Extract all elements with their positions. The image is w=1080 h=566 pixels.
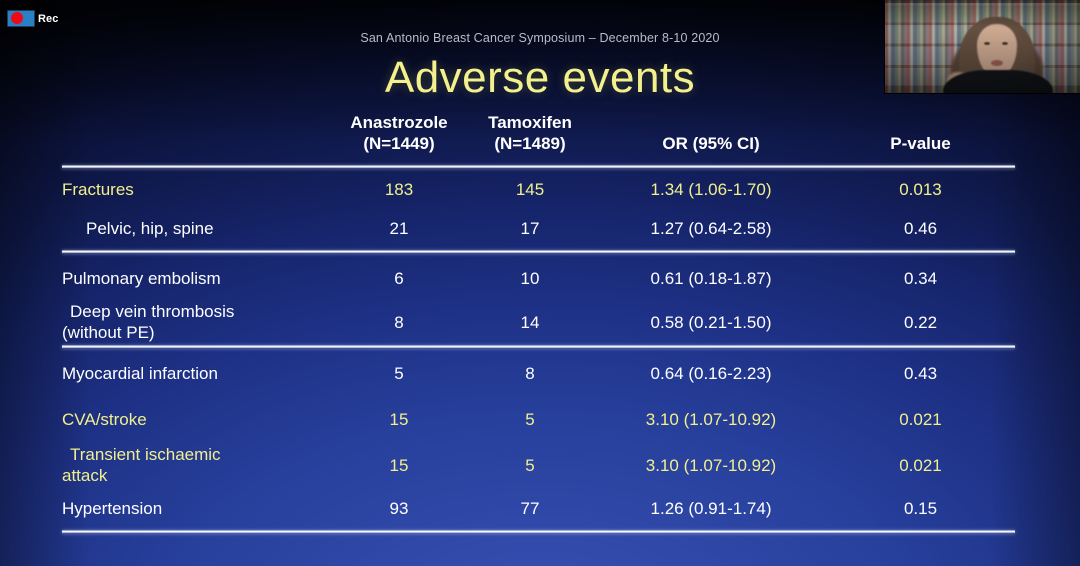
table-divider	[62, 248, 1015, 255]
row-label-text: Fractures	[62, 180, 134, 199]
table-row: Pulmonary embolism6100.61 (0.18-1.87)0.3…	[62, 255, 1015, 301]
column-header-tamoxifen-line2: (N=1489)	[464, 133, 596, 154]
cell-odds-ratio: 0.61 (0.18-1.87)	[596, 255, 826, 301]
row-label-text-line2: attack	[62, 466, 107, 485]
cell-tamoxifen: 77	[464, 488, 596, 528]
adverse-events-table: Anastrozole (N=1449) Tamoxifen (N=1489) …	[62, 112, 1015, 535]
cell-tamoxifen: 8	[464, 350, 596, 396]
cell-anastrozole: 8	[334, 301, 464, 343]
column-header-anastrozole: Anastrozole (N=1449)	[334, 112, 464, 163]
cell-tamoxifen: 145	[464, 170, 596, 208]
row-label: Hypertension	[62, 488, 334, 528]
cell-anastrozole: 21	[334, 208, 464, 248]
cell-odds-ratio: 1.27 (0.64-2.58)	[596, 208, 826, 248]
table-row: Pelvic, hip, spine21171.27 (0.64-2.58)0.…	[62, 208, 1015, 248]
cell-tamoxifen: 5	[464, 442, 596, 488]
column-header-pvalue-line1: P-value	[826, 133, 1015, 154]
divider-line	[62, 345, 1015, 349]
cell-pvalue: 0.15	[826, 488, 1015, 528]
table-row: Transient ischaemicattack1553.10 (1.07-1…	[62, 442, 1015, 488]
table-divider-cell	[62, 528, 1015, 535]
record-dot-icon	[7, 10, 35, 27]
cell-pvalue: 0.43	[826, 350, 1015, 396]
cell-odds-ratio: 0.64 (0.16-2.23)	[596, 350, 826, 396]
table-divider-cell	[62, 248, 1015, 255]
row-label-text: Hypertension	[62, 499, 162, 518]
cell-pvalue: 0.021	[826, 442, 1015, 488]
row-label-text: Myocardial infarction	[62, 364, 218, 383]
table-row: Myocardial infarction580.64 (0.16-2.23)0…	[62, 350, 1015, 396]
table-divider-cell	[62, 343, 1015, 350]
cell-tamoxifen: 10	[464, 255, 596, 301]
cell-anastrozole: 93	[334, 488, 464, 528]
row-label-text: Transient ischaemic	[62, 444, 221, 465]
divider-line	[62, 250, 1015, 254]
table-divider	[62, 343, 1015, 350]
column-header-or: OR (95% CI)	[596, 112, 826, 163]
table-divider-cell	[62, 163, 1015, 170]
table-header: Anastrozole (N=1449) Tamoxifen (N=1489) …	[62, 112, 1015, 163]
cell-tamoxifen: 5	[464, 396, 596, 442]
cell-tamoxifen: 14	[464, 301, 596, 343]
column-header-tamoxifen-line1: Tamoxifen	[464, 112, 596, 133]
slide-footnote	[62, 556, 1015, 566]
row-label: Transient ischaemicattack	[62, 442, 334, 488]
row-label-text: CVA/stroke	[62, 410, 147, 429]
cell-anastrozole: 15	[334, 442, 464, 488]
table-divider	[62, 528, 1015, 535]
column-header-anastrozole-line2: (N=1449)	[334, 133, 464, 154]
divider-line	[62, 530, 1015, 534]
column-header-or-line1: OR (95% CI)	[596, 133, 826, 154]
table-header-row: Anastrozole (N=1449) Tamoxifen (N=1489) …	[62, 112, 1015, 163]
cell-anastrozole: 6	[334, 255, 464, 301]
row-label: Pelvic, hip, spine	[62, 208, 334, 248]
cell-anastrozole: 5	[334, 350, 464, 396]
cell-odds-ratio: 1.26 (0.91-1.74)	[596, 488, 826, 528]
table-row: Hypertension93771.26 (0.91-1.74)0.15	[62, 488, 1015, 528]
table-row: Fractures1831451.34 (1.06-1.70)0.013	[62, 170, 1015, 208]
cell-anastrozole: 15	[334, 396, 464, 442]
cell-pvalue: 0.22	[826, 301, 1015, 343]
row-label-text: Pulmonary embolism	[62, 269, 221, 288]
row-label: Fractures	[62, 170, 334, 208]
column-header-tamoxifen: Tamoxifen (N=1489)	[464, 112, 596, 163]
cell-odds-ratio: 3.10 (1.07-10.92)	[596, 396, 826, 442]
row-label-text-line2: (without PE)	[62, 323, 155, 342]
row-label-text: Deep vein thrombosis	[62, 301, 234, 322]
recording-label: Rec	[38, 13, 58, 25]
column-header-label	[62, 112, 334, 163]
row-label: Myocardial infarction	[62, 350, 334, 396]
table-row: Deep vein thrombosis(without PE)8140.58 …	[62, 301, 1015, 343]
table-row: CVA/stroke1553.10 (1.07-10.92)0.021	[62, 396, 1015, 442]
recording-indicator[interactable]: Rec	[7, 10, 58, 27]
video-shading	[885, 0, 1080, 93]
cell-pvalue: 0.013	[826, 170, 1015, 208]
cell-anastrozole: 183	[334, 170, 464, 208]
table-divider	[62, 163, 1015, 170]
column-header-anastrozole-line1: Anastrozole	[334, 112, 464, 133]
cell-pvalue: 0.34	[826, 255, 1015, 301]
cell-odds-ratio: 0.58 (0.21-1.50)	[596, 301, 826, 343]
row-label: Pulmonary embolism	[62, 255, 334, 301]
presenter-video-feed[interactable]	[884, 0, 1080, 94]
table-body: Fractures1831451.34 (1.06-1.70)0.013Pelv…	[62, 163, 1015, 535]
cell-odds-ratio: 3.10 (1.07-10.92)	[596, 442, 826, 488]
column-header-pvalue: P-value	[826, 112, 1015, 163]
adverse-events-table-container: Anastrozole (N=1449) Tamoxifen (N=1489) …	[62, 112, 1015, 535]
presentation-screen: San Antonio Breast Cancer Symposium – De…	[0, 0, 1080, 566]
divider-line	[62, 165, 1015, 169]
row-label-text: Pelvic, hip, spine	[62, 218, 214, 239]
row-label: CVA/stroke	[62, 396, 334, 442]
cell-pvalue: 0.46	[826, 208, 1015, 248]
cell-tamoxifen: 17	[464, 208, 596, 248]
cell-pvalue: 0.021	[826, 396, 1015, 442]
row-label: Deep vein thrombosis(without PE)	[62, 301, 334, 343]
cell-odds-ratio: 1.34 (1.06-1.70)	[596, 170, 826, 208]
